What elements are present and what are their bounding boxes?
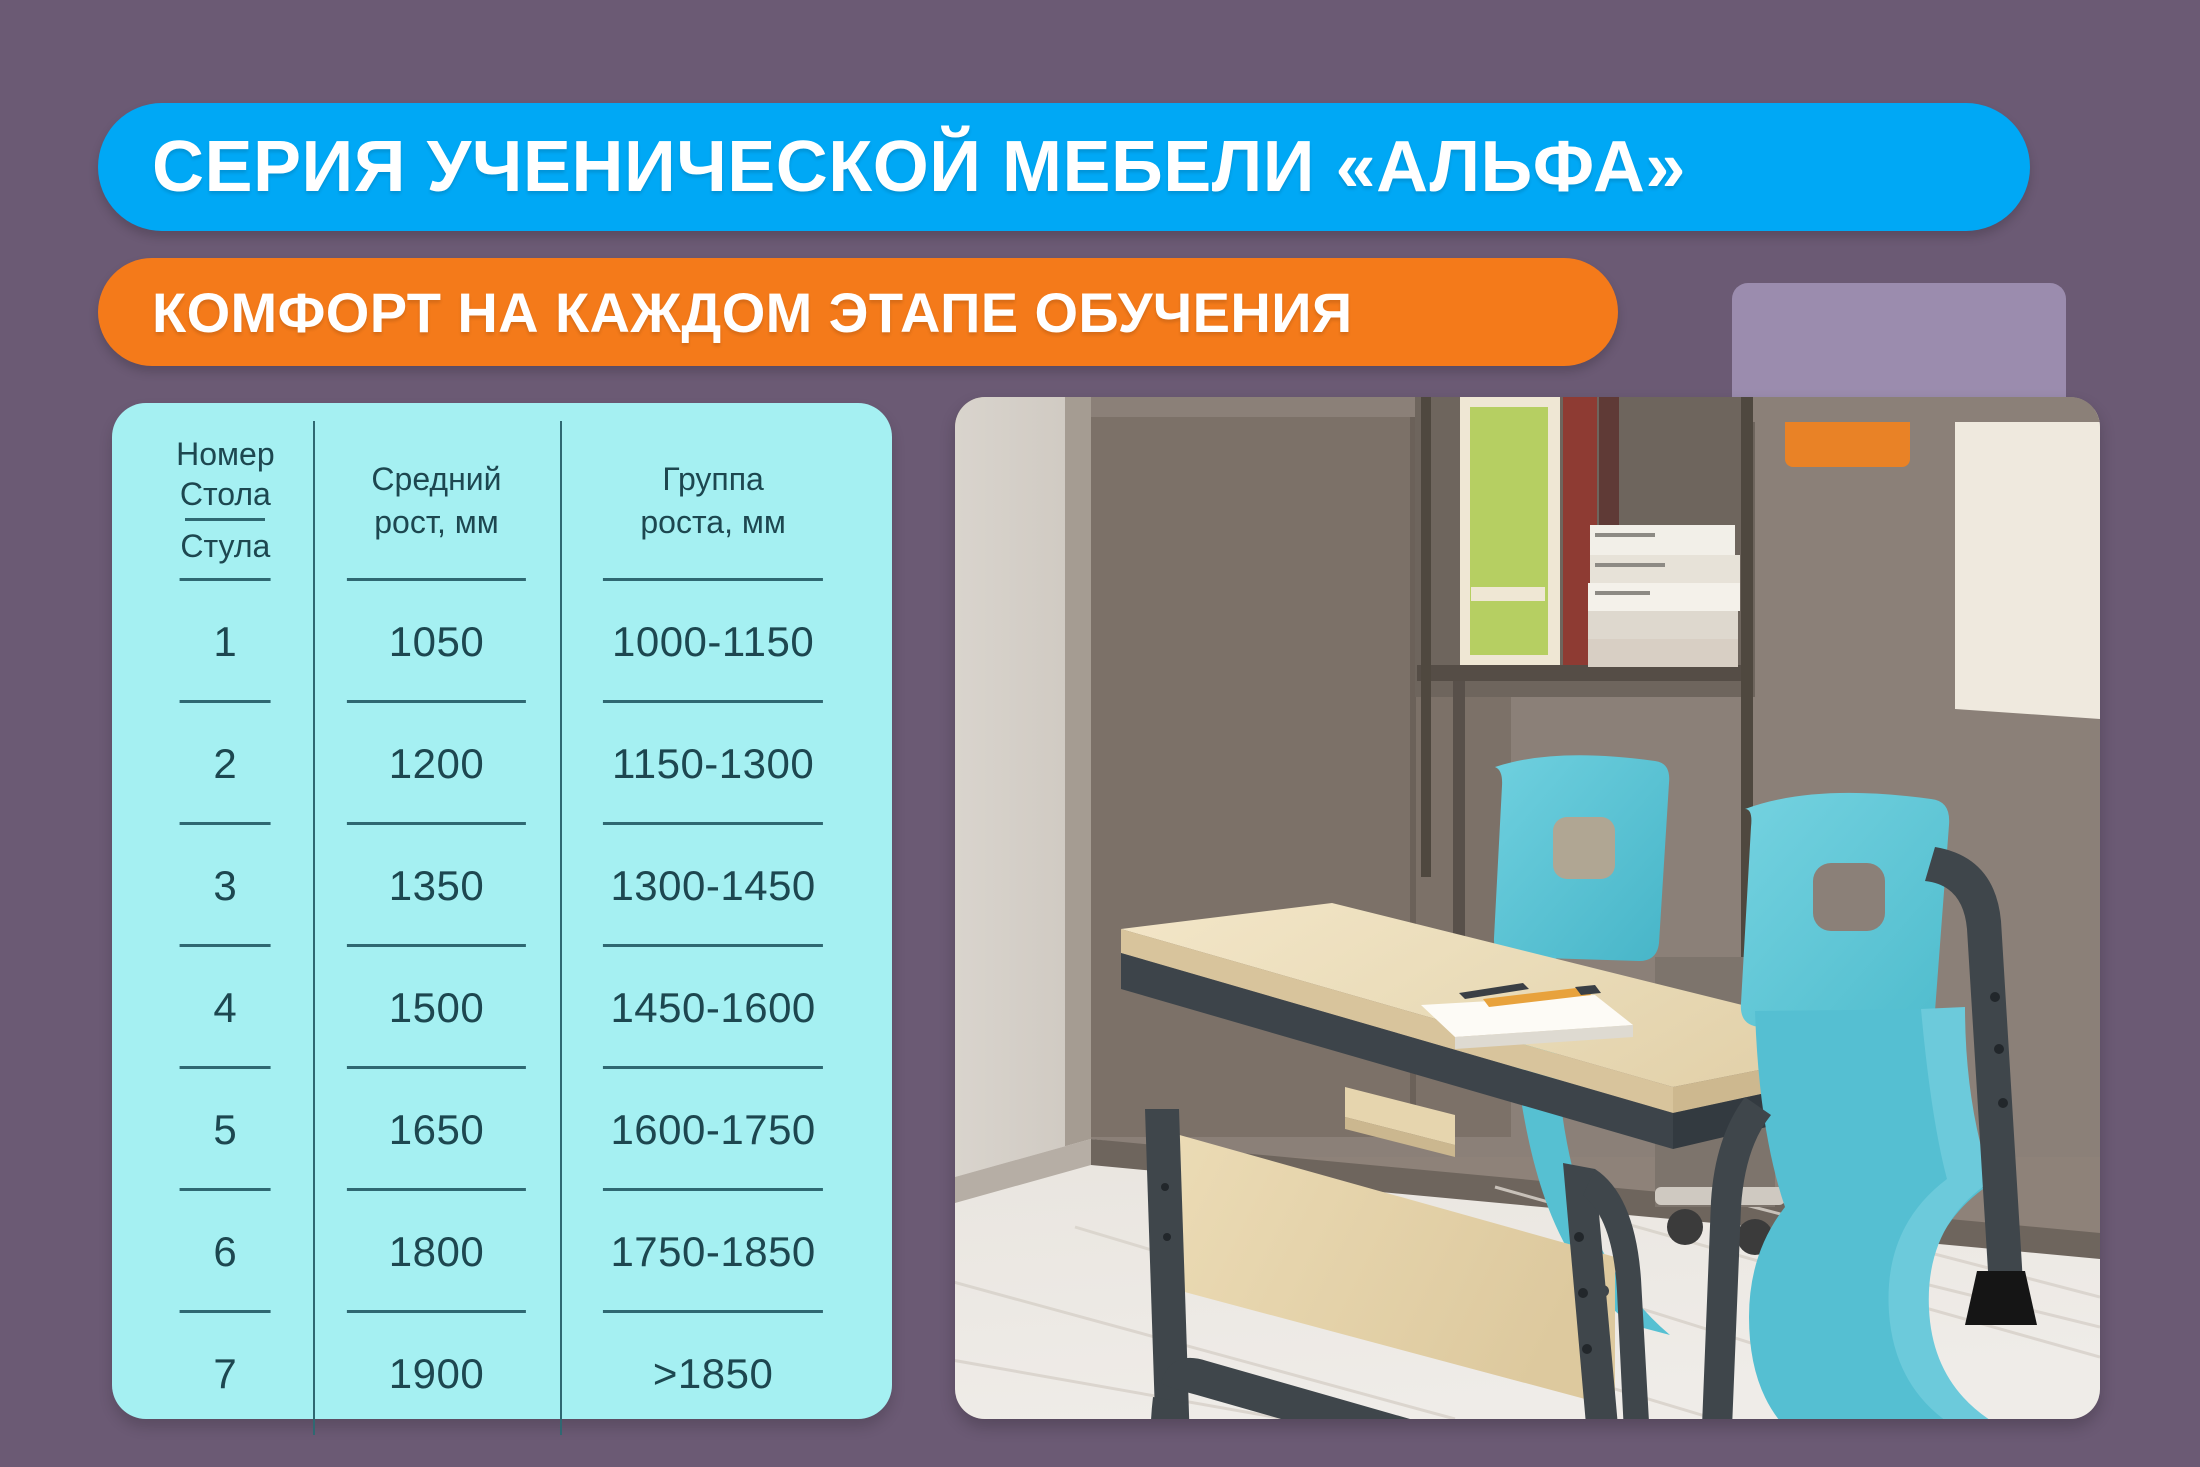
page-title: СЕРИЯ УЧЕНИЧЕСКОЙ МЕБЕЛИ «АЛЬФА» — [152, 126, 1686, 208]
chair-handle-hole — [1813, 863, 1885, 931]
book-band — [1471, 587, 1545, 601]
cell-average: 1800 — [313, 1191, 561, 1313]
title-banner: СЕРИЯ УЧЕНИЧЕСКОЙ МЕБЕЛИ «АЛЬФА» — [98, 103, 2030, 231]
cell-average: 1900 — [313, 1313, 561, 1435]
header-number-label: Номер — [176, 434, 275, 474]
cell-average: 1050 — [313, 581, 561, 703]
cell-group: 1600-1750 — [560, 1069, 866, 1191]
book-stack — [1588, 525, 1740, 667]
shelf-book-green — [1470, 407, 1548, 655]
cell-average: 1200 — [313, 703, 561, 825]
product-photo — [955, 397, 2100, 1419]
header-number-bottom: Стула — [176, 526, 275, 566]
wall-left — [955, 397, 1083, 1187]
cell-group: 1300-1450 — [560, 825, 866, 947]
table-row: 4 1500 1450-1600 — [138, 947, 866, 1069]
cell-group: 1150-1300 — [560, 703, 866, 825]
cell-number: 6 — [138, 1191, 313, 1313]
table-header-row: Номер Стола Стула Средний рост, мм Гру — [138, 421, 866, 581]
chair-handle-cutout — [1553, 817, 1615, 879]
cell-number: 7 — [138, 1313, 313, 1435]
cell-number: 1 — [138, 581, 313, 703]
page-subtitle: КОМФОРТ НА КАЖДОМ ЭТАПЕ ОБУЧЕНИЯ — [152, 280, 1353, 345]
decorative-accent-rect — [1732, 283, 2066, 401]
cell-average: 1650 — [313, 1069, 561, 1191]
wall-right-top — [1753, 397, 2100, 422]
cell-number: 3 — [138, 825, 313, 947]
subtitle-banner: КОМФОРТ НА КАЖДОМ ЭТАПЕ ОБУЧЕНИЯ — [98, 258, 1618, 366]
shelf-board — [1417, 665, 1753, 681]
table-row: 7 1900 >1850 — [138, 1313, 866, 1435]
table-row: 1 1050 1000-1150 — [138, 581, 866, 703]
product-photo-illustration — [955, 397, 2100, 1419]
header-cell-number: Номер Стола Стула — [138, 421, 313, 581]
size-table-body: 1 1050 1000-1150 2 1200 1150-1300 3 1350… — [138, 581, 866, 1435]
cell-group: 1750-1850 — [560, 1191, 866, 1313]
table-row: 6 1800 1750-1850 — [138, 1191, 866, 1313]
wall-edge — [1065, 397, 1091, 1187]
fraction-bar-icon — [185, 518, 265, 521]
header-cell-group: Группа роста, мм — [560, 421, 866, 581]
table-row: 2 1200 1150-1300 — [138, 703, 866, 825]
cell-group: 1000-1150 — [560, 581, 866, 703]
header-group-line1: Группа — [662, 461, 763, 497]
cell-number: 5 — [138, 1069, 313, 1191]
header-cell-average: Средний рост, мм — [313, 421, 561, 581]
header-average-line2: рост, мм — [374, 504, 498, 540]
table-row: 3 1350 1300-1450 — [138, 825, 866, 947]
cell-group: >1850 — [560, 1313, 866, 1435]
shelf-post-left — [1421, 397, 1431, 877]
size-table-card: Номер Стола Стула Средний рост, мм Гру — [112, 403, 892, 1419]
cell-average: 1350 — [313, 825, 561, 947]
header-group-line2: роста, мм — [640, 504, 785, 540]
cell-average: 1500 — [313, 947, 561, 1069]
cell-group: 1450-1600 — [560, 947, 866, 1069]
cell-number: 4 — [138, 947, 313, 1069]
poster-root: СЕРИЯ УЧЕНИЧЕСКОЙ МЕБЕЛИ «АЛЬФА» КОМФОРТ… — [0, 0, 2200, 1467]
size-table: Номер Стола Стула Средний рост, мм Гру — [138, 421, 866, 1435]
header-number-top: Стола — [176, 474, 275, 514]
table-row: 5 1650 1600-1750 — [138, 1069, 866, 1191]
header-average-line1: Средний — [371, 461, 501, 497]
cell-number: 2 — [138, 703, 313, 825]
